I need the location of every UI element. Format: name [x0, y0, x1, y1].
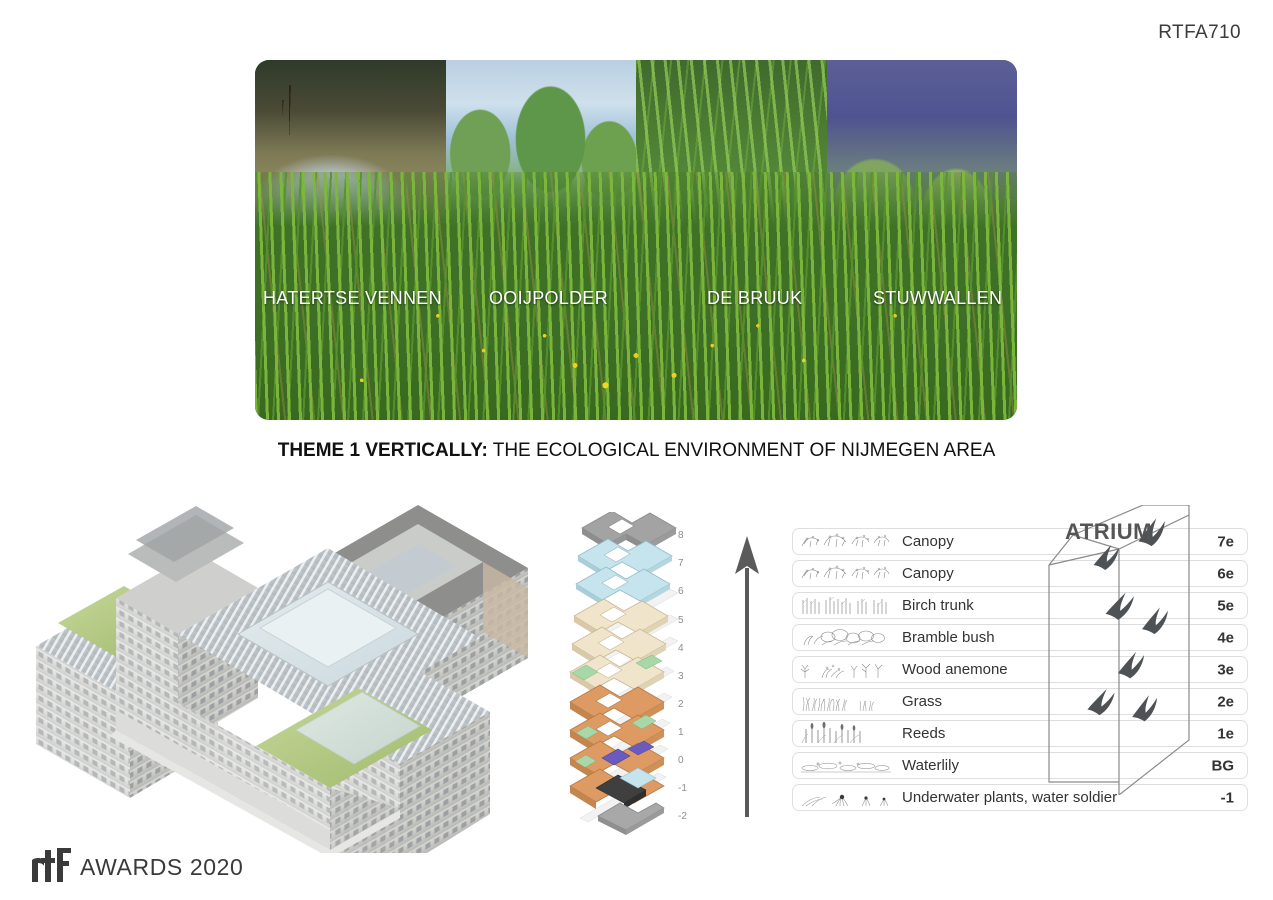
rtf-awards-logo: AWARDS 2020 [32, 848, 243, 882]
level-label-8: 8 [678, 530, 684, 541]
photo-label-de-bruuk: DE BRUUK [707, 288, 802, 309]
canopy-sketch-icon [798, 562, 894, 585]
level-label-1: 1 [678, 727, 684, 738]
level-label-2: 2 [678, 699, 684, 710]
legend-row[interactable]: Reeds 1e [792, 720, 1248, 747]
legend-row[interactable]: Grass 2e [792, 688, 1248, 715]
legend-row-name: Canopy [902, 565, 954, 582]
legend-row[interactable]: Wood anemone 3e [792, 656, 1248, 683]
building-axonometric [28, 478, 533, 853]
legend-row-name: Underwater plants, water soldier [902, 789, 1117, 806]
legend-row-code: 6e [1217, 565, 1234, 582]
level-label-column: 8 7 6 5 4 3 2 1 0 -1 -2 [678, 512, 708, 837]
grass-sketch-icon [798, 690, 894, 713]
photo-label-stuwwallen: STUWWALLEN [873, 288, 1002, 309]
level-label-6: 6 [678, 586, 684, 597]
level-label-3: 3 [678, 671, 684, 682]
vertical-growth-arrow [728, 534, 766, 819]
rtf-awards-text: AWARDS 2020 [80, 856, 243, 882]
plate-level-7 [578, 539, 672, 578]
legend-row-name: Wood anemone [902, 661, 1008, 678]
level-label-minus1: -1 [678, 783, 687, 794]
legend-row-name: Birch trunk [902, 597, 974, 614]
theme-caption-prefix: THEME 1 VERTICALLY: [278, 440, 488, 461]
theme-caption-text: THE ECOLOGICAL ENVIRONMENT OF NIJMEGEN A… [488, 440, 995, 461]
level-label-5: 5 [678, 615, 684, 626]
photo-panel: HATERTSE VENNEN OOIJPOLDER DE BRUUK STUW… [255, 60, 1017, 420]
legend-row-code: 3e [1217, 661, 1234, 678]
legend-row-code: 1e [1217, 725, 1234, 742]
bramble-bush-sketch-icon [798, 626, 894, 649]
photo-label-ooijpolder: OOIJPOLDER [489, 288, 608, 309]
legend-row-code: 5e [1217, 597, 1234, 614]
legend-row-code: -1 [1221, 789, 1234, 806]
photo-label-hatertse-vennen: HATERTSE VENNEN [263, 288, 442, 309]
legend-row[interactable]: Canopy 6e [792, 560, 1248, 587]
legend-row-code: BG [1212, 757, 1235, 774]
level-label-4: 4 [678, 643, 684, 654]
legend-row-code: 4e [1217, 629, 1234, 646]
sheet-code: RTFA710 [1158, 22, 1241, 44]
theme-caption: THEME 1 VERTICALLY: THE ECOLOGICAL ENVIR… [0, 440, 1273, 462]
presentation-board: RTFA710 HATERTSE VENNEN OOIJPOLDER DE BR… [0, 0, 1273, 900]
canopy-sketch-icon [798, 530, 894, 553]
photo-label-group: HATERTSE VENNEN OOIJPOLDER DE BRUUK STUW… [255, 60, 1017, 420]
legend-row[interactable]: Underwater plants, water soldier -1 [792, 784, 1248, 811]
reeds-sketch-icon [798, 722, 894, 745]
ecology-legend-table: Canopy 7e [792, 528, 1248, 816]
legend-row[interactable]: Birch trunk 5e [792, 592, 1248, 619]
birch-trunk-sketch-icon [798, 594, 894, 617]
rtf-monogram-icon [32, 848, 74, 882]
plate-level-8 [582, 512, 676, 551]
waterlily-sketch-icon [798, 754, 894, 777]
wood-anemone-sketch-icon [798, 658, 894, 681]
legend-row[interactable]: Canopy 7e [792, 528, 1248, 555]
legend-row-name: Canopy [902, 533, 954, 550]
legend-row-name: Bramble bush [902, 629, 995, 646]
legend-row-name: Reeds [902, 725, 945, 742]
legend-row-code: 2e [1217, 693, 1234, 710]
exploded-axonometric: 8 7 6 5 4 3 2 1 0 -1 -2 [566, 512, 706, 837]
level-label-7: 7 [678, 558, 684, 569]
legend-row[interactable]: Bramble bush 4e [792, 624, 1248, 651]
level-label-0: 0 [678, 755, 684, 766]
level-label-minus2: -2 [678, 811, 687, 822]
legend-row[interactable]: Waterlily BG [792, 752, 1248, 779]
legend-row-name: Grass [902, 693, 942, 710]
plate-level-3 [570, 655, 664, 695]
legend-row-name: Waterlily [902, 757, 959, 774]
underwater-plants-sketch-icon [798, 786, 894, 809]
legend-row-code: 7e [1217, 533, 1234, 550]
